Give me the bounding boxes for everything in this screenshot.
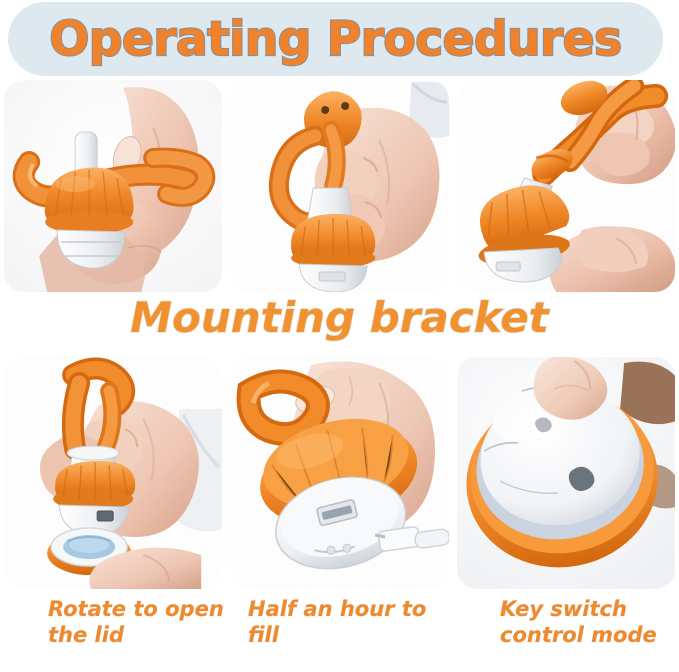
device-orange-cap <box>53 461 135 510</box>
caption-row: Rotate to open the lid Half an hour to f… <box>0 596 679 672</box>
caption-key-switch: Key switch control mode <box>500 596 679 649</box>
photo-key-switch-top <box>457 357 675 589</box>
device-orange-cap <box>291 214 375 268</box>
caption-line: Rotate to open <box>48 596 248 622</box>
infographic-page: Operating Procedures <box>0 0 679 672</box>
caption-line: Half an hour to fill <box>248 596 458 649</box>
caption-rotate: Rotate to open the lid <box>48 596 248 649</box>
header-banner: Operating Procedures <box>8 2 663 76</box>
photo-row-top <box>0 80 679 292</box>
caption-line: the lid <box>48 622 248 648</box>
caption-fill: Half an hour to fill <box>248 596 458 649</box>
caption-line: control mode <box>500 622 679 648</box>
photo-hold-device-with-rope <box>230 80 448 292</box>
photo-usb-charging <box>230 357 448 589</box>
caption-line: Key switch <box>500 596 679 622</box>
photo-thread-rope-through-bracket <box>4 80 222 292</box>
photo-rotate-open-lid <box>4 357 222 589</box>
page-title: Operating Procedures <box>49 16 621 63</box>
mounting-bracket-caption: Mounting bracket <box>0 296 679 340</box>
photo-hang-device-by-rope <box>457 80 675 292</box>
photo-row-bottom <box>0 357 679 589</box>
